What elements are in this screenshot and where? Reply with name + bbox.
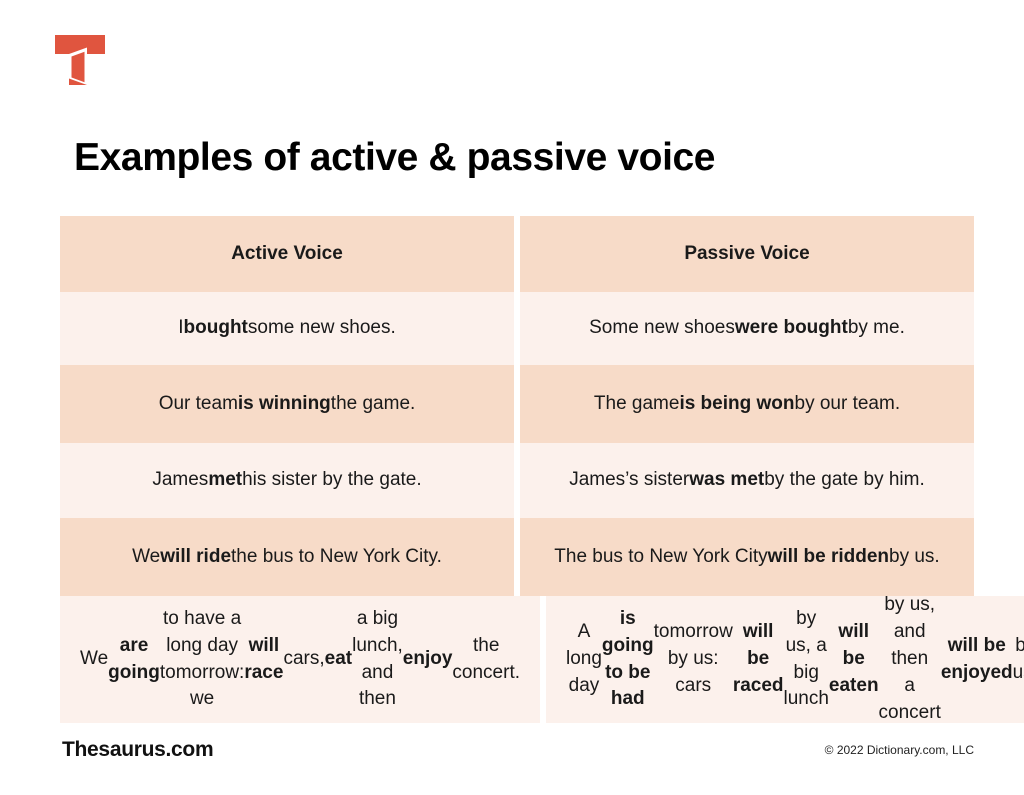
cell-passive-voice: The bus to New York Citywill be ridden b… — [520, 518, 974, 596]
column-header-passive-voice: Passive Voice — [520, 216, 974, 292]
table-row: Our team is winning the game. The game i… — [60, 365, 974, 443]
cell-active-voice: Our team is winning the game. — [60, 365, 514, 443]
footer-brand-name: Thesaurus.com — [62, 738, 213, 762]
table-row: James met his sister by the gate. James’… — [60, 443, 974, 518]
cell-passive-voice: The game is being won by our team. — [520, 365, 974, 443]
cell-active-voice: We will ride the bus to New York City. — [60, 518, 514, 596]
footer-copyright: © 2022 Dictionary.com, LLC — [825, 743, 974, 757]
cell-active-voice: We are going to have a long daytomorrow:… — [60, 596, 540, 723]
thesaurus-t-logo-icon — [55, 35, 105, 85]
table-row: We are going to have a long daytomorrow:… — [60, 596, 974, 723]
cell-passive-voice: James’s sister was met by the gate by hi… — [520, 443, 974, 518]
cell-active-voice: I bought some new shoes. — [60, 292, 514, 365]
cell-active-voice: James met his sister by the gate. — [60, 443, 514, 518]
table-header-row: Active Voice Passive Voice — [60, 216, 974, 292]
table-row: I bought some new shoes. Some new shoes … — [60, 292, 974, 365]
active-passive-voice-table: Active Voice Passive Voice I bought some… — [60, 216, 974, 723]
column-header-active-voice: Active Voice — [60, 216, 514, 292]
cell-passive-voice: A long day is going to be had tomorrowby… — [546, 596, 1024, 723]
page-title: Examples of active & passive voice — [74, 136, 715, 180]
cell-passive-voice: Some new shoes were bought by me. — [520, 292, 974, 365]
table-row: We will ride the bus to New York City. T… — [60, 518, 974, 596]
